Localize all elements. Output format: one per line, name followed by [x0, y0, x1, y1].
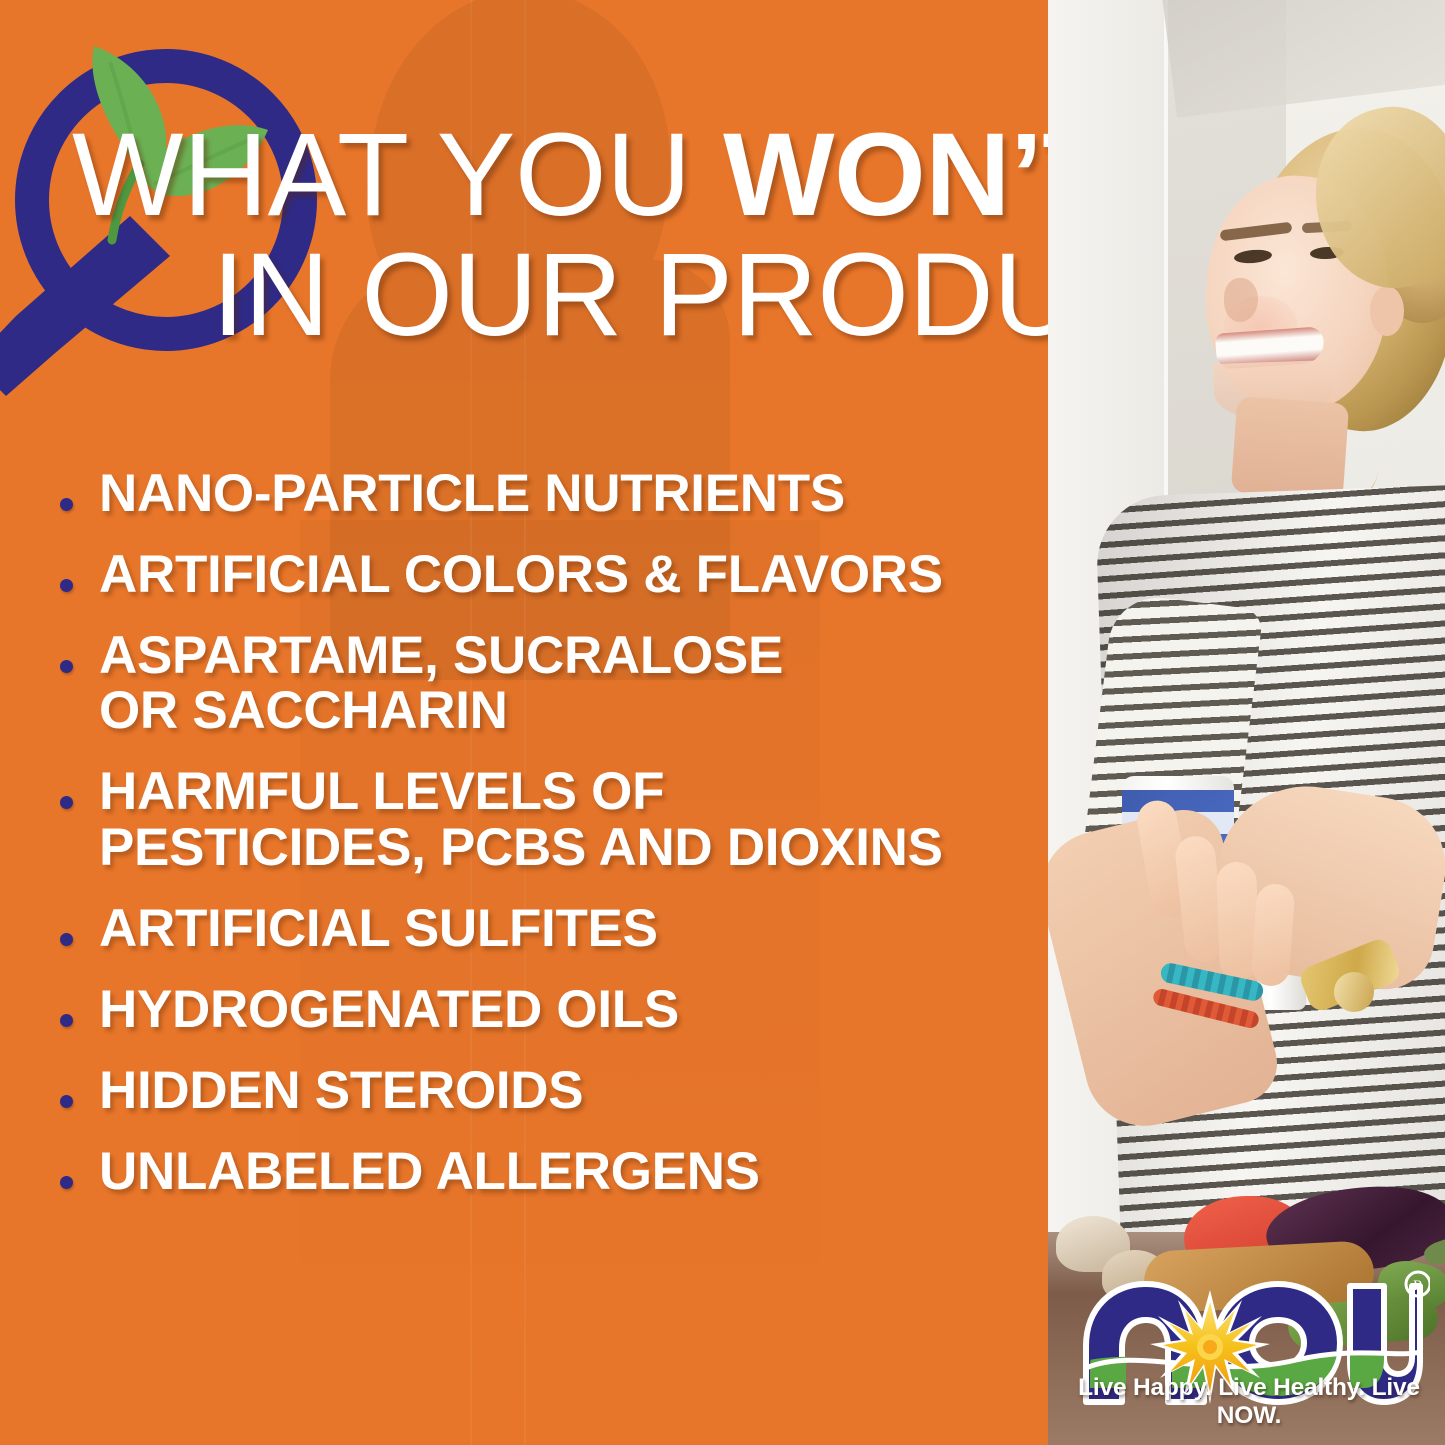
list-item-label: ARTIFICIAL COLORS & FLAVORS [99, 547, 943, 602]
headline-line-2: IN OUR PRODUCTS [0, 238, 1048, 354]
lifestyle-photo [1048, 0, 1445, 1445]
bullet-dot-icon [60, 660, 73, 673]
orange-content-panel: WHAT YOU WON’T FIND IN OUR PRODUCTS NANO… [0, 0, 1048, 1445]
bullet-dot-icon [60, 933, 73, 946]
headline-emphasis: WON’T [723, 109, 1048, 241]
list-item: HIDDEN STEROIDS [60, 1063, 1048, 1118]
bullet-dot-icon [60, 579, 73, 592]
list-item: HARMFUL LEVELS OF PESTICIDES, PCBS AND D… [60, 764, 1048, 874]
bullet-dot-icon [60, 498, 73, 511]
list-item-label: HYDROGENATED OILS [99, 982, 679, 1037]
list-item-label: HIDDEN STEROIDS [99, 1063, 583, 1118]
brand-tagline: Live Happy. Live Healthy. Live NOW. [1068, 1374, 1430, 1430]
headline-part-1: WHAT YOU [72, 109, 723, 241]
list-item: HYDROGENATED OILS [60, 982, 1048, 1037]
finger-4 [1250, 883, 1295, 987]
list-item: ARTIFICIAL COLORS & FLAVORS [60, 547, 1048, 602]
bullet-dot-icon [60, 1095, 73, 1108]
exclusion-list: NANO-PARTICLE NUTRIENTS ARTIFICIAL COLOR… [60, 466, 1048, 1225]
promotional-poster: WHAT YOU WON’T FIND IN OUR PRODUCTS NANO… [0, 0, 1445, 1445]
list-item: NANO-PARTICLE NUTRIENTS [60, 466, 1048, 521]
bullet-dot-icon [60, 1176, 73, 1189]
list-item: ARTIFICIAL SULFITES [60, 901, 1048, 956]
list-item-label: ARTIFICIAL SULFITES [99, 901, 658, 956]
registered-trademark-icon: R [1406, 1272, 1430, 1296]
bullet-dot-icon [60, 796, 73, 809]
list-item: UNLABELED ALLERGENS [60, 1144, 1048, 1199]
svg-text:R: R [1413, 1278, 1423, 1294]
bullet-dot-icon [60, 1014, 73, 1027]
list-item: ASPARTAME, SUCRALOSE OR SACCHARIN [60, 628, 1048, 738]
list-item-label: UNLABELED ALLERGENS [99, 1144, 760, 1199]
page-title: WHAT YOU WON’T FIND IN OUR PRODUCTS [0, 118, 1048, 353]
list-item-label: NANO-PARTICLE NUTRIENTS [99, 466, 845, 521]
list-item-label: HARMFUL LEVELS OF PESTICIDES, PCBS AND D… [99, 764, 943, 874]
woman-ear [1370, 286, 1404, 336]
ceiling-beam [1161, 0, 1445, 118]
list-item-label: ASPARTAME, SUCRALOSE OR SACCHARIN [99, 628, 783, 738]
